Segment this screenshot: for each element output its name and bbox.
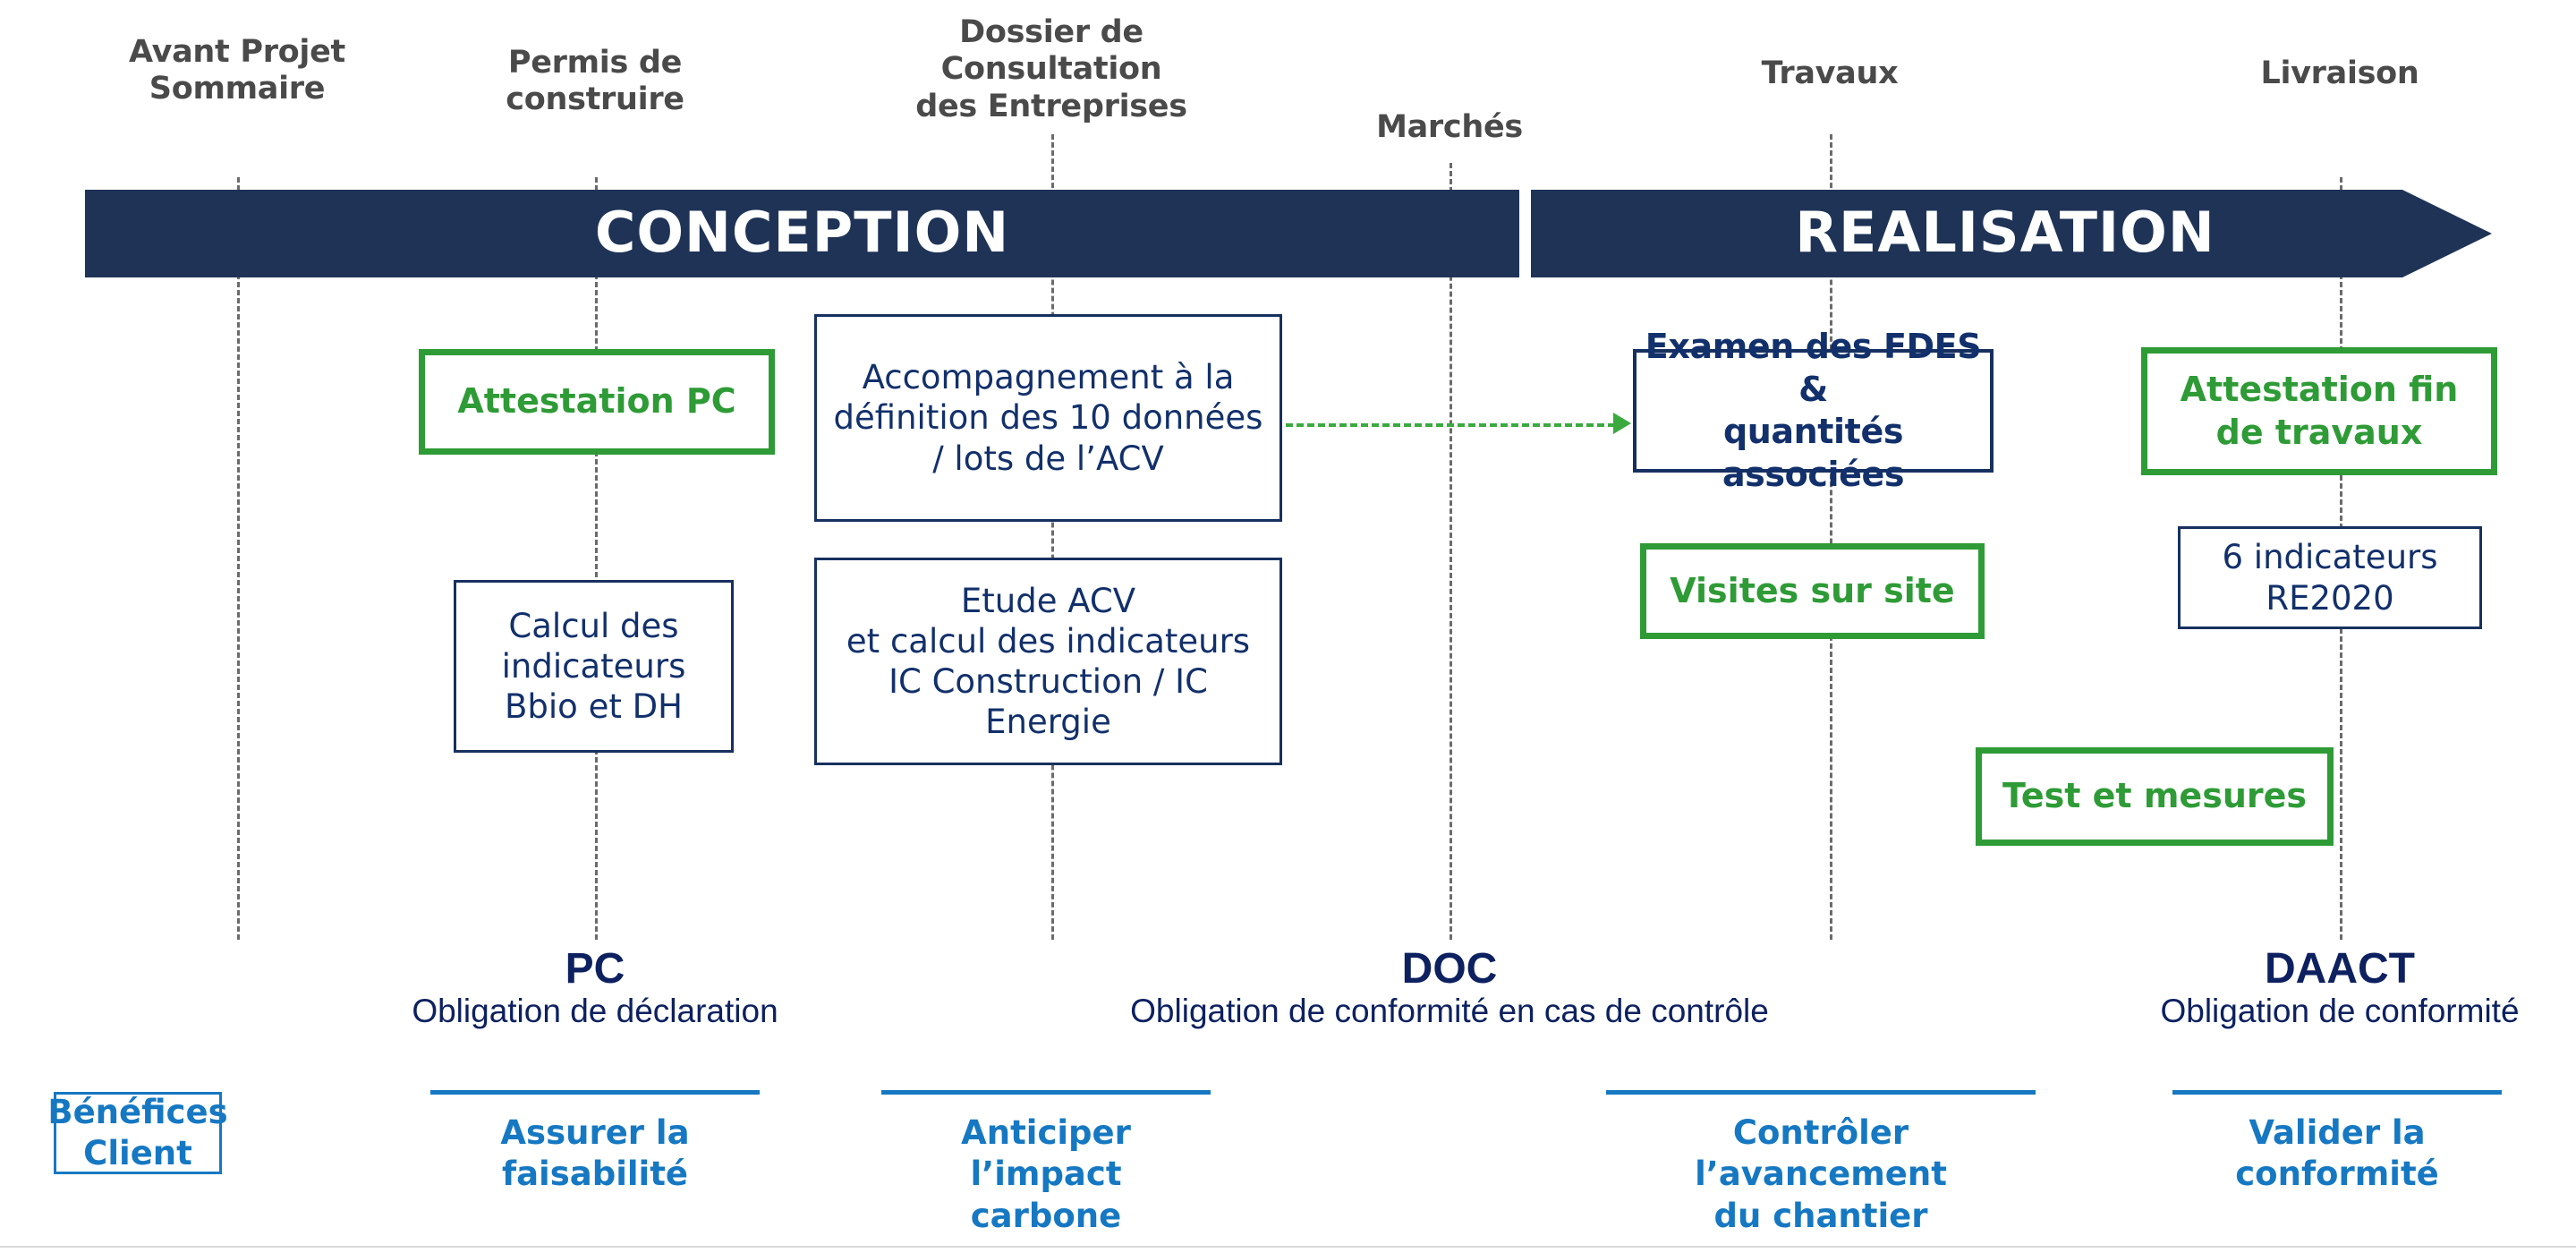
- connector-acv-to-fdes-line: [1286, 423, 1615, 427]
- footer-divider: [0, 1246, 2576, 1248]
- benefit-assurer-la-faisabilite: Assurer la faisabilité: [430, 1090, 760, 1196]
- benefit-controler-avancement-chantier: Contrôler l’avancement du chantier: [1606, 1090, 2036, 1237]
- obligation-code-daact: DAACT: [2027, 947, 2576, 992]
- box-visites-sur-site[interactable]: Visites sur site: [1640, 543, 1985, 639]
- milestone-label-avant-projet-sommaire: Avant Projet Sommaire: [81, 34, 394, 108]
- box-indicateurs-re2020[interactable]: 6 indicateurs RE2020: [2178, 526, 2482, 629]
- box-accompagnement-acv[interactable]: Accompagnement à la définition des 10 do…: [814, 314, 1282, 522]
- obligation-desc-pc: Obligation de déclaration: [282, 993, 908, 1030]
- benefit-valider-la-conformite: Valider la conformité: [2172, 1090, 2502, 1196]
- box-etude-acv[interactable]: Etude ACV et calcul des indicateurs IC C…: [814, 558, 1282, 765]
- obligation-desc-daact: Obligation de conformité: [2027, 993, 2576, 1030]
- benefit-anticiper-impact-carbone: Anticiper l’impact carbone: [881, 1090, 1211, 1237]
- box-examen-fdes[interactable]: Examen des FDES & quantités associées: [1633, 349, 1994, 473]
- milestone-label-livraison: Livraison: [2188, 55, 2492, 92]
- milestone-line-permis-de-construire: [595, 177, 598, 940]
- milestone-label-dossier-consultation: Dossier de Consultation des Entreprises: [863, 14, 1239, 125]
- obligation-pc: PC Obligation de déclaration: [282, 947, 908, 1030]
- obligation-desc-doc: Obligation de conformité en cas de contr…: [1002, 993, 1897, 1030]
- box-calcul-indicateurs[interactable]: Calcul des indicateurs Bbio et DH: [454, 580, 734, 753]
- milestone-label-travaux: Travaux: [1678, 55, 1982, 92]
- obligation-code-doc: DOC: [1002, 947, 1897, 992]
- phase-label-realisation: REALISATION: [1531, 190, 2479, 277]
- obligation-daact: DAACT Obligation de conformité: [2027, 947, 2576, 1030]
- milestone-line-avant-projet-sommaire: [237, 177, 240, 940]
- obligation-code-pc: PC: [282, 947, 908, 992]
- milestone-label-marches: Marchés: [1297, 109, 1602, 146]
- milestone-label-permis-de-construire: Permis de construire: [438, 45, 752, 119]
- phase-label-conception: CONCEPTION: [85, 190, 1519, 277]
- phase-banner-divider: [1519, 190, 1531, 277]
- box-attestation-pc[interactable]: Attestation PC: [419, 349, 775, 455]
- box-attestation-fin-travaux[interactable]: Attestation fin de travaux: [2141, 347, 2497, 475]
- milestone-line-marches: [1450, 163, 1452, 940]
- benefits-legend: Bénéfices Client: [54, 1092, 222, 1174]
- connector-acv-to-fdes-arrowhead-icon: [1613, 413, 1631, 434]
- box-test-et-mesures[interactable]: Test et mesures: [1976, 747, 2334, 846]
- process-timeline-diagram: Avant Projet Sommaire Permis de construi…: [0, 0, 2576, 1253]
- phase-banner: CONCEPTION REALISATION: [85, 190, 2492, 277]
- obligation-doc: DOC Obligation de conformité en cas de c…: [1002, 947, 1897, 1030]
